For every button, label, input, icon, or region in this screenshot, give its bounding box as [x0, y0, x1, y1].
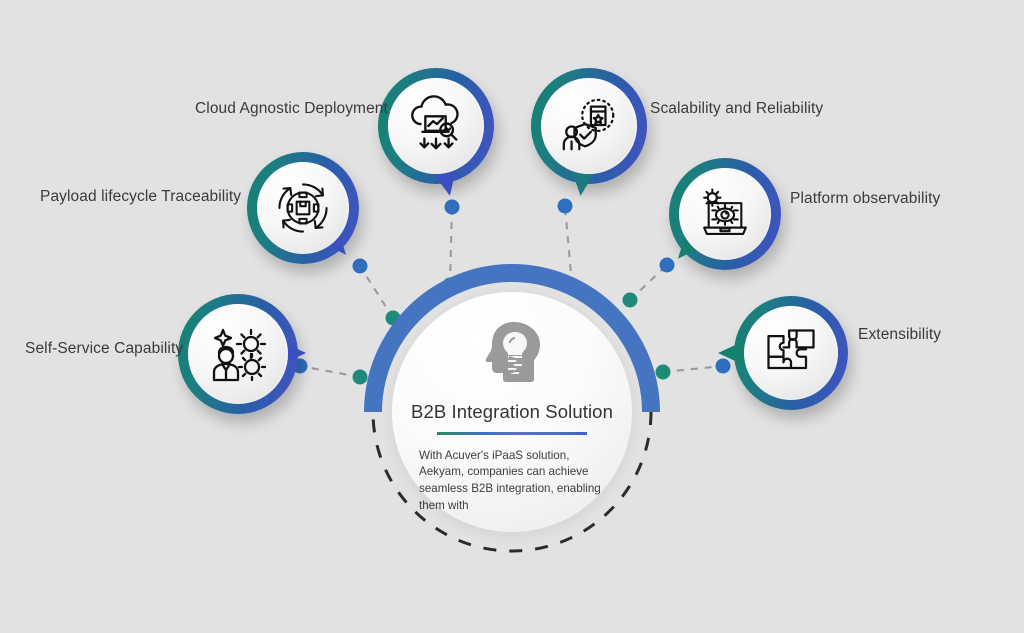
label-payload-lifecycle-traceability: Payload lifecycle Traceability [40, 188, 240, 206]
node-payload-lifecycle-traceability[interactable] [247, 152, 359, 264]
puzzle-pieces-icon [761, 323, 821, 383]
diagram-canvas: B2B Integration Solution With Acuver's i… [0, 0, 1024, 633]
hub-disc: B2B Integration Solution With Acuver's i… [392, 292, 632, 532]
hub: B2B Integration Solution With Acuver's i… [392, 292, 632, 532]
node-self-service-capability[interactable] [178, 294, 298, 414]
node-disc [679, 168, 771, 260]
hub-description: With Acuver's iPaaS solution, Aekyam, co… [419, 448, 605, 515]
cloud-download-analytics-icon [405, 95, 467, 157]
laptop-eye-gear-icon [696, 185, 754, 243]
node-disc [744, 306, 838, 400]
node-scalability-and-reliability[interactable] [531, 68, 647, 184]
shield-person-certificate-icon [558, 95, 620, 157]
hub-divider [437, 432, 587, 435]
node-platform-observability[interactable] [669, 158, 781, 270]
label-platform-observability: Platform observability [790, 190, 990, 208]
label-self-service-capability: Self-Service Capability [25, 340, 175, 358]
node-cloud-agnostic-deployment[interactable] [378, 68, 494, 184]
label-cloud-agnostic-deployment: Cloud Agnostic Deployment [195, 100, 375, 118]
node-disc [257, 162, 349, 254]
node-disc [541, 78, 637, 174]
head-lightbulb-icon [484, 320, 540, 391]
hub-title: B2B Integration Solution [411, 401, 613, 423]
label-extensibility: Extensibility [858, 326, 1018, 344]
person-gears-icon [206, 322, 270, 386]
gear-lifecycle-arrows-icon [274, 179, 332, 237]
label-scalability-and-reliability: Scalability and Reliability [650, 100, 860, 118]
node-pointer-tail [718, 340, 746, 366]
node-disc [388, 78, 484, 174]
node-extensibility[interactable] [734, 296, 848, 410]
node-disc [188, 304, 288, 404]
